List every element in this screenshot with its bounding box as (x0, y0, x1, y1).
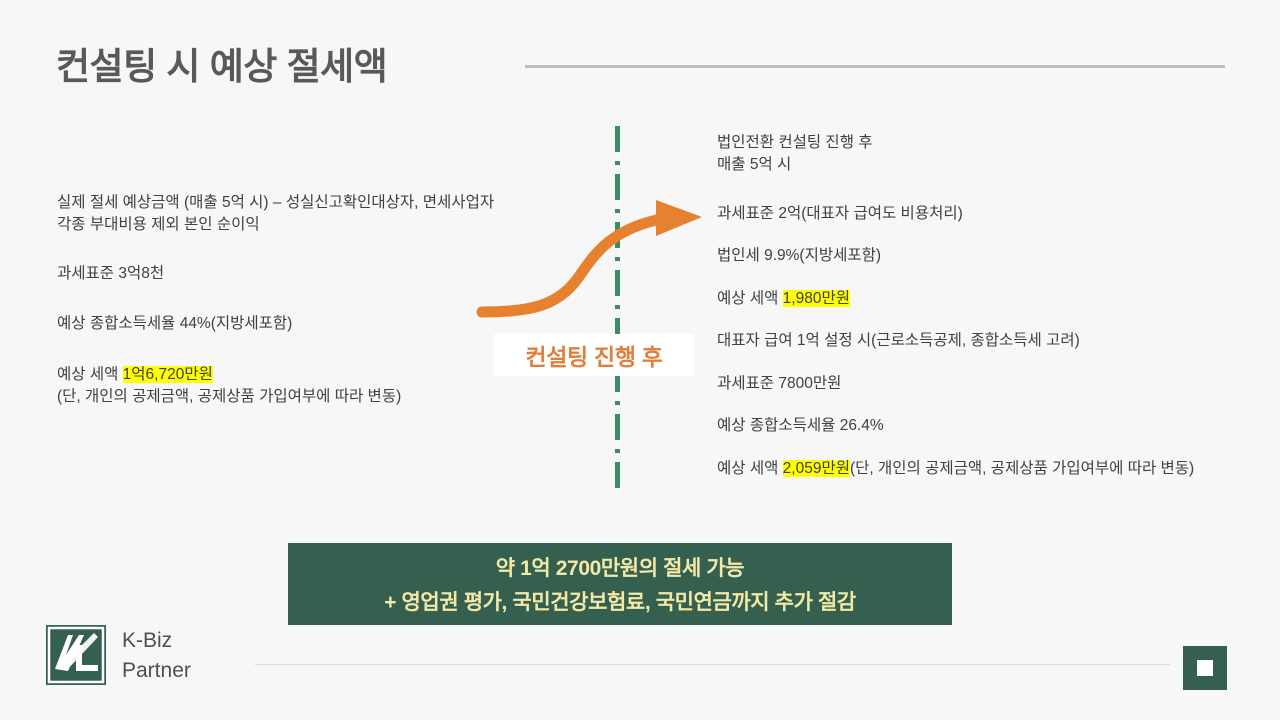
footer-divider-rule (255, 664, 1170, 665)
right-personal-estimated-tax: 예상 세액 2,059만원(단, 개인의 공제금액, 공제상품 가입여부에 따라… (717, 458, 1277, 480)
right-heading-paragraph: 법인전환 컨설팅 진행 후 매출 5억 시 (717, 132, 1277, 177)
left-heading-line-2: 각종 부대비용 제외 본인 순이익 (57, 214, 617, 236)
summary-line-2: + 영업권 평가, 국민건강보험료, 국민연금까지 추가 절감 (384, 586, 856, 616)
left-estimated-tax-prefix: 예상 세액 (57, 366, 123, 383)
brand-name: K-Biz Partner (122, 626, 191, 687)
left-estimated-tax-note: (단, 개인의 공제금액, 공제상품 가입여부에 따라 변동) (57, 386, 617, 408)
savings-summary-banner: 약 1억 2700만원의 절세 가능 + 영업권 평가, 국민건강보험료, 국민… (288, 543, 952, 625)
right-corp-tax-prefix: 예상 세액 (717, 290, 783, 307)
right-personal-tax-note: (단, 개인의 공제금액, 공제상품 가입여부에 따라 변동) (850, 460, 1194, 477)
brand-name-line-2: Partner (122, 656, 191, 686)
kbiz-monogram-icon (43, 622, 109, 688)
left-heading-line-1: 실제 절세 예상금액 (매출 5억 시) – 성실신고확인대상자, 면세사업자 (57, 192, 617, 214)
right-personal-tax-base: 과세표준 7800만원 (717, 373, 1277, 395)
right-heading-line-1: 법인전환 컨설팅 진행 후 (717, 132, 1277, 154)
right-personal-tax-prefix: 예상 세액 (717, 460, 783, 477)
right-heading-line-2: 매출 5억 시 (717, 154, 1277, 176)
left-estimated-tax-paragraph: 예상 세액 1억6,720만원 (단, 개인의 공제금액, 공제상품 가입여부에… (57, 364, 617, 409)
right-salary-note: 대표자 급여 1억 설정 시(근로소득공제, 종합소득세 고려) (717, 330, 1277, 352)
slide-canvas: 컨설팅 시 예상 절세액 컨설팅 진행 후 실제 절세 예상금액 (매출 5억 … (0, 0, 1280, 720)
right-corp-tax-base: 과세표준 2억(대표자 급여도 비용처리) (717, 203, 1277, 225)
square-mark-inner (1197, 660, 1213, 676)
right-corp-tax-rate: 법인세 9.9%(지방세포함) (717, 245, 1277, 267)
before-consulting-column: 실제 절세 예상금액 (매출 5억 시) – 성실신고확인대상자, 면세사업자 … (57, 192, 617, 409)
after-consulting-column: 법인전환 컨설팅 진행 후 매출 5억 시 과세표준 2억(대표자 급여도 비용… (717, 132, 1277, 480)
left-heading-paragraph: 실제 절세 예상금액 (매출 5억 시) – 성실신고확인대상자, 면세사업자 … (57, 192, 617, 237)
left-tax-base: 과세표준 3억8천 (57, 263, 617, 285)
square-mark-icon (1183, 646, 1227, 690)
brand-name-line-1: K-Biz (122, 626, 191, 656)
summary-line-1: 약 1억 2700만원의 절세 가능 (496, 552, 744, 582)
right-corp-tax-value: 1,980만원 (783, 290, 850, 307)
left-tax-rate: 예상 종합소득세율 44%(지방세포함) (57, 313, 617, 335)
right-personal-tax-value: 2,059만원 (783, 460, 850, 477)
page-title: 컨설팅 시 예상 절세액 (56, 36, 387, 90)
title-divider-rule (525, 65, 1225, 68)
left-estimated-tax-value: 1억6,720만원 (123, 366, 213, 383)
right-corp-estimated-tax: 예상 세액 1,980만원 (717, 288, 1277, 310)
left-estimated-tax-line: 예상 세액 1억6,720만원 (57, 364, 617, 386)
right-personal-tax-rate: 예상 종합소득세율 26.4% (717, 415, 1277, 437)
